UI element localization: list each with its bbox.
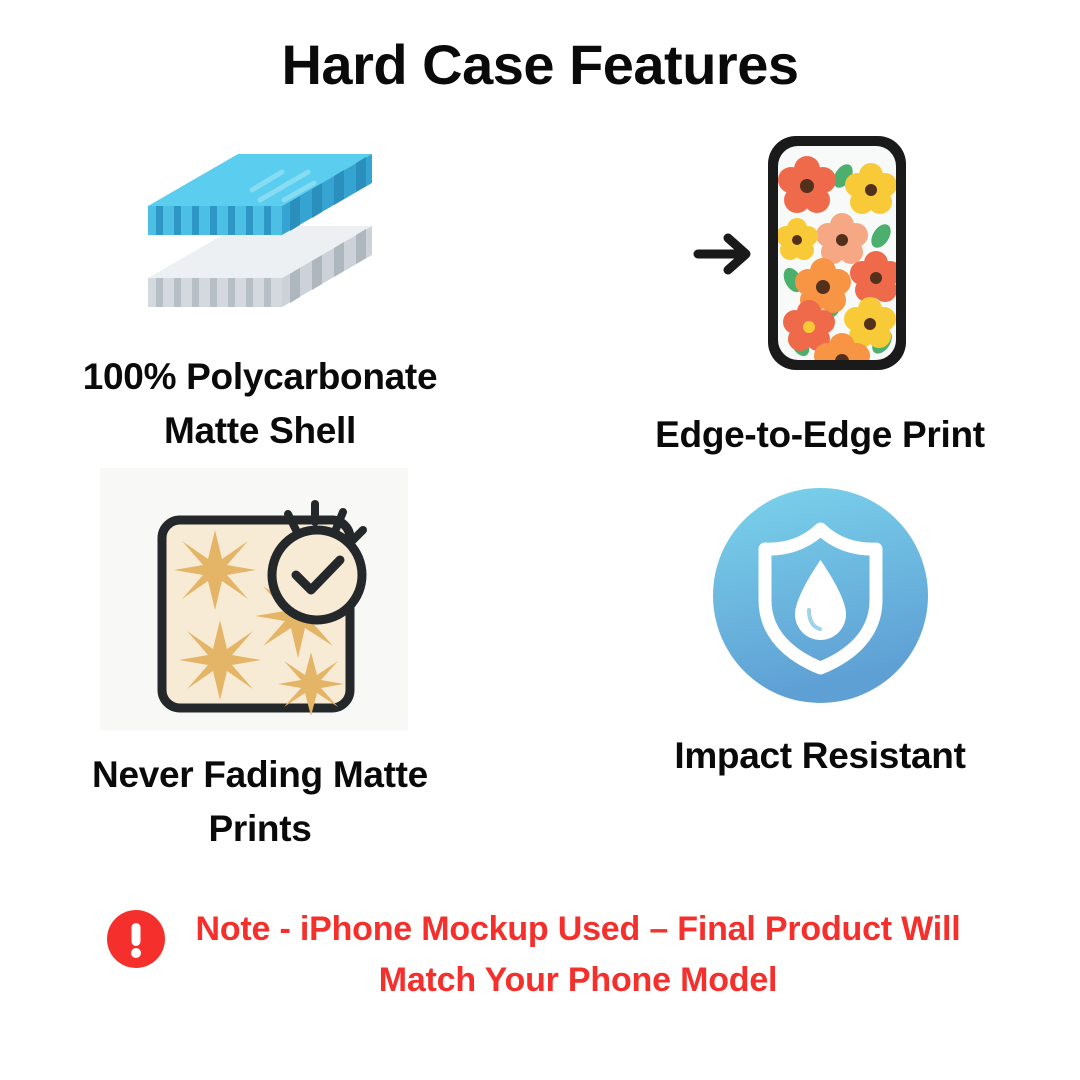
note-banner: Note - iPhone Mockup Used – Final Produc… bbox=[0, 904, 1080, 1006]
sparkle-square-check-icon bbox=[100, 468, 420, 738]
feature-label-polycarbonate-shell: 100% Polycarbonate Matte Shell bbox=[40, 350, 480, 457]
feature-label-never-fading-prints: Never Fading Matte Prints bbox=[40, 748, 480, 855]
layered-slabs-icon bbox=[130, 128, 390, 338]
note-text: Note - iPhone Mockup Used – Final Produc… bbox=[183, 904, 973, 1006]
feature-item-edge-to-edge-print: Edge-to-Edge Print bbox=[580, 128, 1060, 462]
phone-case-floral-print-icon bbox=[690, 128, 950, 378]
feature-item-never-fading-prints: Never Fading Matte Prints bbox=[20, 468, 500, 855]
exclamation-circle-icon bbox=[107, 910, 165, 968]
page-title: Hard Case Features bbox=[0, 34, 1080, 96]
feature-label-edge-to-edge-print: Edge-to-Edge Print bbox=[655, 408, 985, 462]
feature-grid: 100% Polycarbonate Matte Shell bbox=[0, 128, 1080, 888]
feature-label-impact-resistant: Impact Resistant bbox=[674, 729, 965, 783]
arrow-right-icon bbox=[698, 238, 746, 270]
feature-item-polycarbonate-shell: 100% Polycarbonate Matte Shell bbox=[20, 128, 500, 457]
feature-item-impact-resistant: Impact Resistant bbox=[580, 488, 1060, 783]
shield-droplet-icon bbox=[713, 488, 928, 703]
